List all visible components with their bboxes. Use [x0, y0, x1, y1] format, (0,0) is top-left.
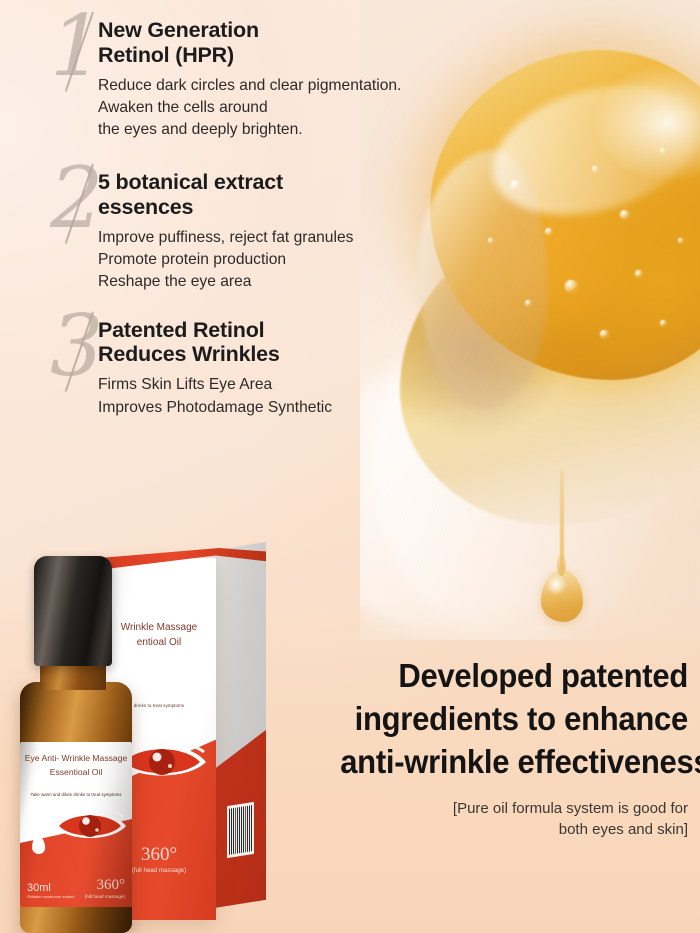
feature-title-line: essences: [98, 195, 410, 220]
feature-title-line: Reduces Wrinkles: [98, 342, 410, 367]
feature-line: Improve puffiness, reject fat granules: [98, 227, 410, 249]
feature-item-2: 2 5 botanical extract essences Improve p…: [50, 170, 410, 294]
headline-line-2: ingredients to enhance: [340, 698, 688, 741]
bubble-icon: [488, 238, 493, 243]
label-eye-logo-icon: [52, 804, 128, 844]
feature-lines-2: Improve puffiness, reject fat granules P…: [98, 227, 410, 294]
label-volume: 30ml: [27, 882, 74, 894]
feature-line: Improves Photodamage Synthetic: [98, 397, 410, 419]
feature-title-3: Patented Retinol Reduces Wrinkles: [98, 318, 410, 368]
feature-body-2: 5 botanical extract essences Improve puf…: [50, 170, 410, 294]
feature-body-1: New Generation Retinol (HPR) Reduce dark…: [50, 18, 410, 142]
headline-line-1: Developed patented: [340, 655, 688, 698]
headline-subtext-line: [Pure oil formula system is good for: [318, 798, 688, 820]
feature-line: the eyes and deeply brighten.: [98, 119, 410, 141]
headline-line-3: anti-wrinkle effectiveness: [340, 741, 688, 784]
barcode-icon: [227, 802, 254, 858]
bubble-icon: [660, 320, 666, 326]
bubble-icon: [525, 300, 531, 306]
label-note: Take warm and dilute drinks to treat sym…: [24, 792, 128, 797]
box-side-panel: [215, 542, 266, 908]
label-title-line: Eye Anti- Wrinkle Massage: [23, 752, 129, 766]
bubble-icon: [678, 238, 683, 243]
bottle-label: Eye Anti- Wrinkle Massage Essentioal Oil…: [20, 742, 132, 907]
label-degrees-sub: (full head massage): [85, 894, 125, 899]
amber-oil-photo: [360, 0, 700, 640]
feature-item-3: 3 Patented Retinol Reduces Wrinkles Firm…: [50, 318, 410, 419]
feature-title-2: 5 botanical extract essences: [98, 170, 410, 220]
feature-title-1: New Generation Retinol (HPR): [98, 18, 410, 68]
bubble-icon: [592, 166, 598, 172]
feature-lines-3: Firms Skin Lifts Eye Area Improves Photo…: [98, 374, 410, 419]
feature-body-3: Patented Retinol Reduces Wrinkles Firms …: [50, 318, 410, 419]
feature-list: 1 New Generation Retinol (HPR) Reduce da…: [50, 18, 410, 437]
label-title-line: Essentioal Oil: [23, 766, 129, 780]
bubble-icon: [660, 148, 665, 153]
label-title: Eye Anti- Wrinkle Massage Essentioal Oil: [23, 752, 129, 780]
label-volume-block: 30ml Shiitake mushroom extract: [27, 882, 74, 899]
headline-subtext: [Pure oil formula system is good for bot…: [318, 798, 688, 842]
bubble-icon: [600, 330, 608, 338]
bottle-cap: [34, 556, 112, 666]
bubble-icon: [565, 280, 577, 292]
feature-item-1: 1 New Generation Retinol (HPR) Reduce da…: [50, 18, 410, 142]
product-bottle: Eye Anti- Wrinkle Massage Essentioal Oil…: [18, 556, 134, 933]
feature-line: Reshape the eye area: [98, 271, 410, 293]
feature-line: Reduce dark circles and clear pigmentati…: [98, 75, 410, 97]
product-marketing-image: 1 New Generation Retinol (HPR) Reduce da…: [0, 0, 700, 933]
bubble-icon: [620, 210, 629, 219]
feature-line: Awaken the cells around: [98, 97, 410, 119]
label-volume-sub: Shiitake mushroom extract: [27, 894, 74, 899]
bubble-icon: [510, 180, 520, 190]
label-bottom-row: 30ml Shiitake mushroom extract 360° (ful…: [20, 878, 132, 899]
feature-line: Firms Skin Lifts Eye Area: [98, 374, 410, 396]
feature-lines-1: Reduce dark circles and clear pigmentati…: [98, 75, 410, 142]
headline-subtext-line: both eyes and skin]: [318, 819, 688, 841]
label-degrees-block: 360° (full head massage): [85, 878, 125, 899]
bubble-icon: [635, 270, 642, 277]
feature-title-line: Retinol (HPR): [98, 43, 410, 68]
bubble-icon: [545, 228, 552, 235]
feature-title-line: New Generation: [98, 18, 410, 43]
headline-block: Developed patented ingredients to enhanc…: [318, 655, 688, 841]
label-degrees: 360°: [85, 878, 125, 893]
feature-title-line: 5 botanical extract: [98, 170, 410, 195]
feature-line: Promote protein production: [98, 249, 410, 271]
feature-title-line: Patented Retinol: [98, 318, 410, 343]
